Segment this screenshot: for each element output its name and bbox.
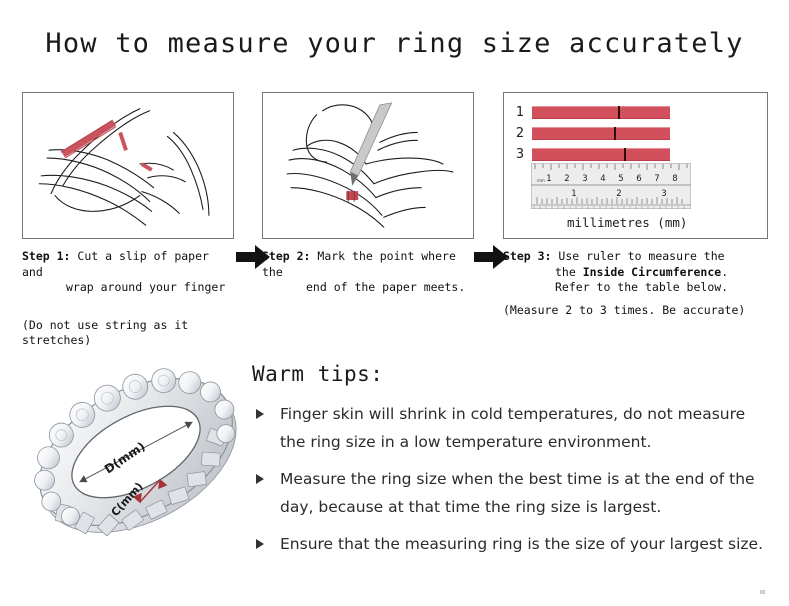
warm-tips-heading: Warm tips: [252, 362, 772, 386]
svg-text:mm: mm [537, 178, 545, 183]
step-1: Step 1: Cut a slip of paper and wrap aro… [22, 92, 234, 348]
warm-tip-item-3: Ensure that the measuring ring is the si… [252, 530, 772, 558]
warm-tip-text-2: Measure the ring size when the best time… [280, 470, 755, 516]
step-1-illustration-panel [22, 92, 234, 239]
step-3-line2-emphasis: Inside Circumference [583, 265, 721, 279]
warm-tip-item-1: Finger skin will shrink in cold temperat… [252, 400, 772, 456]
svg-text:3: 3 [661, 189, 666, 199]
svg-text:2: 2 [564, 174, 569, 184]
step-2: Step 2: Mark the point where the end of … [262, 92, 474, 296]
hand-marking-paper-illustration [263, 93, 473, 238]
eternity-ring-illustration: D(mm) C(mm) [20, 352, 252, 552]
svg-text:1: 1 [546, 174, 551, 184]
ring-diagram: D(mm) C(mm) [20, 352, 252, 552]
svg-text:8: 8 [672, 174, 677, 184]
step-2-caption: Step 2: Mark the point where the end of … [262, 249, 474, 296]
step-3-illustration-panel: 1 2 3 [503, 92, 768, 239]
ruler-unit-label: millimetres (mm) [567, 215, 687, 230]
triangle-bullet-icon [256, 409, 264, 419]
step-1-caption: Step 1: Cut a slip of paper and wrap aro… [22, 249, 234, 296]
triangle-bullet-icon [256, 474, 264, 484]
warm-tips-section: Warm tips: Finger skin will shrink in co… [252, 362, 772, 567]
step-2-label: Step 2: [262, 249, 310, 263]
svg-text:3: 3 [582, 174, 587, 184]
svg-text:5: 5 [618, 174, 623, 184]
svg-text:6: 6 [636, 174, 641, 184]
step-1-label: Step 1: [22, 249, 70, 263]
warm-tip-text-1: Finger skin will shrink in cold temperat… [280, 405, 745, 451]
step-1-note: (Do not use string as it stretches) [22, 318, 234, 348]
measured-strip-row-2: 2 [512, 126, 670, 141]
step-3: 1 2 3 [503, 92, 768, 318]
step-3-line2-prefix: the [555, 265, 583, 279]
paper-strip-2 [532, 127, 670, 140]
strip-mark-1 [618, 106, 620, 119]
triangle-bullet-icon [256, 539, 264, 549]
measured-strip-row-1: 1 [512, 105, 670, 120]
step-2-illustration-panel [262, 92, 474, 239]
strip-number-2: 2 [512, 126, 528, 141]
step-3-text-line2: the Inside Circumference. [503, 265, 768, 281]
svg-text:1: 1 [571, 189, 576, 199]
step-3-text-line1: Use ruler to measure the [558, 249, 724, 263]
strip-number-3: 3 [512, 147, 528, 162]
paper-strip-3 [532, 148, 670, 161]
ring-size-guide-page: How to measure your ring size accurately [0, 0, 789, 606]
svg-text:7: 7 [654, 174, 659, 184]
hand-with-paper-slip-illustration [23, 93, 233, 238]
svg-text:4: 4 [600, 174, 605, 184]
step-1-text-line2: wrap around your finger [22, 280, 234, 296]
step-3-caption: Step 3: Use ruler to measure the the Ins… [503, 249, 768, 296]
warm-tip-item-2: Measure the ring size when the best time… [252, 465, 772, 521]
step-3-line2-suffix: . [721, 265, 728, 279]
step-3-text-line3: Refer to the table below. [503, 280, 768, 296]
step-3-note: (Measure 2 to 3 times. Be accurate) [503, 303, 768, 318]
ruler-graphic: 12 34 56 78 mm 123 [531, 163, 691, 209]
ruler-measure-illustration: 1 2 3 [504, 93, 767, 238]
strip-mark-2 [614, 127, 616, 140]
ruler-scales: 12 34 56 78 mm 123 [531, 163, 691, 209]
strip-mark-3 [624, 148, 626, 161]
page-title: How to measure your ring size accurately [0, 28, 789, 59]
strip-number-1: 1 [512, 105, 528, 120]
step-3-label: Step 3: [503, 249, 551, 263]
measured-strip-row-3: 3 [512, 147, 670, 162]
step-2-text-line2: end of the paper meets. [262, 280, 474, 296]
paper-strip-1 [532, 106, 670, 119]
warm-tip-text-3: Ensure that the measuring ring is the si… [280, 535, 763, 553]
corner-artifact [760, 590, 765, 594]
steps-section: Step 1: Cut a slip of paper and wrap aro… [0, 92, 789, 340]
